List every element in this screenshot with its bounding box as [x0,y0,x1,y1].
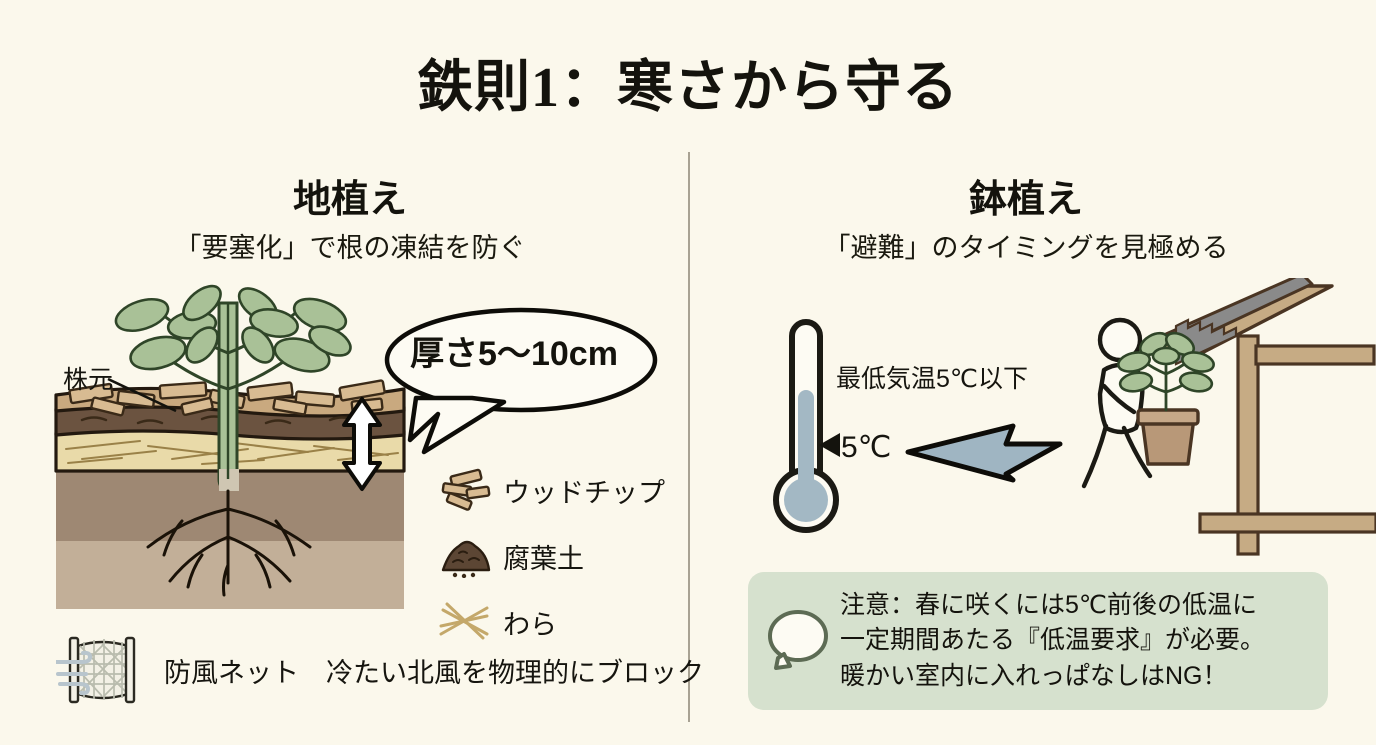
windbreak-row: 防風ネット 冷たい北風を物理的にブロック [56,628,704,712]
thickness-callout-text: 厚さ5〜10cm [383,326,645,375]
legend-item-wood-chips: ウッドチップ [437,462,677,518]
note-line: 暖かい室内に入れっぱなしはNG！ [840,659,1265,695]
page-title: 鉄則1：寒さから守る [0,42,1376,123]
left-column-heading: 地植え [40,168,660,223]
legend-label: 腐葉土 [503,537,584,576]
right-column-subheading: 「避難」のタイミングを見極める [716,226,1336,265]
caution-note-text: 注意：春に咲くには5℃前後の低温に 一定期間あたる『低温要求』が必要。 暖かい室… [840,588,1265,695]
leaf-mold-icon [437,534,493,578]
left-column-subheading: 「要塞化」で根の凍結を防ぐ [40,226,660,265]
thermometer-icon [770,312,842,540]
move-indoors-arrow [905,414,1065,486]
windbreak-label: 防風ネット 冷たい北風を物理的にブロック [164,651,704,690]
windbreak-net-icon [56,628,148,712]
note-line: 注意：春に咲くには5℃前後の低温に [840,588,1265,624]
legend-item-leaf-mold: 腐葉土 [437,528,677,584]
min-temperature-label: 最低気温5℃以下 [836,359,1028,395]
legend-label: ウッドチップ [503,471,665,510]
anchor-label-kabumoto: 株元 [63,360,113,396]
temperature-marker-pointer [816,430,844,460]
temperature-value: 5℃ [841,430,891,465]
speech-bubble-icon [760,604,834,678]
wood-chips-icon [437,468,493,512]
infographic-root: 鉄則1：寒さから守る 地植え 「要塞化」で根の凍結を防ぐ 鉢植え 「避難」のタイ… [0,0,1376,745]
right-column-heading: 鉢植え [716,168,1336,223]
note-line: 一定期間あたる『低温要求』が必要。 [840,623,1265,659]
caution-note-box: 注意：春に咲くには5℃前後の低温に 一定期間あたる『低温要求』が必要。 暖かい室… [748,572,1328,710]
pot-relocation-scene [1060,278,1376,560]
